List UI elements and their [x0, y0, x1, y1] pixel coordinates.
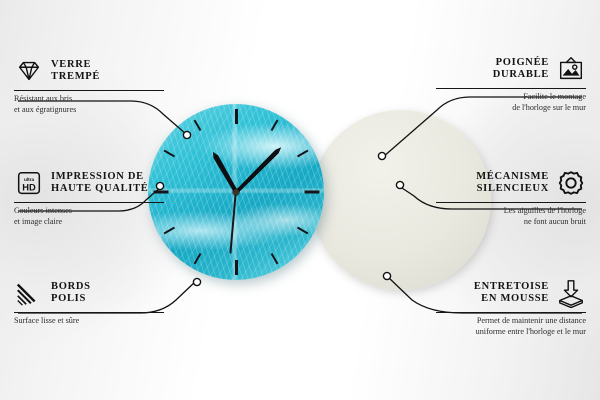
hour-tick	[164, 227, 175, 235]
hour-tick	[271, 120, 279, 131]
feature-divider	[14, 202, 164, 203]
hour-tick	[164, 150, 175, 158]
hour-tick	[271, 253, 279, 264]
hanging-frame-icon	[556, 54, 586, 84]
feature-divider	[436, 202, 586, 203]
hour-tick	[194, 253, 202, 264]
feature-description: Résistant aux bris et aux égratignures	[14, 94, 164, 115]
feature-header: BORDS POLIS	[14, 278, 164, 308]
feature-entretoise-en-mousse: ENTRETOISE EN MOUSSE Permet de maintenir…	[436, 278, 586, 337]
clock-face	[148, 104, 324, 280]
feature-impression-haute-qualite: ultra HD IMPRESSION DE HAUTE QUALITÉ Cou…	[14, 168, 164, 227]
feature-title: VERRE TREMPÉ	[51, 59, 100, 84]
minute-hand	[234, 145, 283, 194]
feature-header: ENTRETOISE EN MOUSSE	[436, 278, 586, 308]
hour-tick	[304, 191, 319, 194]
feature-divider	[436, 312, 586, 313]
second-hand	[230, 192, 237, 254]
feature-description: Surface lisse et sûre	[14, 316, 164, 327]
hour-hand	[211, 151, 239, 194]
hour-tick	[235, 260, 238, 275]
ultra-hd-badge-icon: ultra HD	[14, 168, 44, 198]
feature-verre-trempe: VERRE TREMPÉ Résistant aux bris et aux é…	[14, 56, 164, 115]
feature-description: Facilite le montage de l'horloge sur le …	[436, 92, 586, 113]
feature-divider	[14, 90, 164, 91]
feature-header: VERRE TREMPÉ	[14, 56, 164, 86]
feature-bords-polis: BORDS POLIS Surface lisse et sûre	[14, 278, 164, 327]
feature-poignee-durable: POIGNÉE DURABLE Facilite le montage de l…	[436, 54, 586, 113]
diagonal-lines-icon	[14, 278, 44, 308]
feature-mecanisme-silencieux: MÉCANISME SILENCIEUX Les aiguilles de l'…	[436, 168, 586, 227]
feature-divider	[436, 88, 586, 89]
svg-text:HD: HD	[22, 183, 36, 193]
feature-title: ENTRETOISE EN MOUSSE	[474, 281, 549, 306]
hour-tick	[297, 227, 308, 235]
hand-center-cap	[233, 189, 239, 195]
infographic-canvas: VERRE TREMPÉ Résistant aux bris et aux é…	[0, 0, 600, 400]
gear-icon	[556, 168, 586, 198]
feature-title: MÉCANISME SILENCIEUX	[476, 171, 549, 196]
feature-header: POIGNÉE DURABLE	[436, 54, 586, 84]
hour-tick	[297, 150, 308, 158]
feature-title: IMPRESSION DE HAUTE QUALITÉ	[51, 171, 149, 196]
clock-dial	[148, 104, 324, 280]
feature-header: MÉCANISME SILENCIEUX	[436, 168, 586, 198]
feature-description: Permet de maintenir une distance uniform…	[436, 316, 586, 337]
feature-divider	[14, 312, 164, 313]
diamond-icon	[14, 56, 44, 86]
feature-title: BORDS POLIS	[51, 281, 91, 306]
feature-header: ultra HD IMPRESSION DE HAUTE QUALITÉ	[14, 168, 164, 198]
feature-title: POIGNÉE DURABLE	[493, 57, 549, 82]
arrow-down-pad-icon	[556, 278, 586, 308]
svg-text:ultra: ultra	[24, 177, 35, 182]
feature-description: Couleurs intenses et image claire	[14, 206, 164, 227]
hour-tick	[235, 109, 238, 124]
hour-tick	[194, 120, 202, 131]
feature-description: Les aiguilles de l'horloge ne font aucun…	[436, 206, 586, 227]
